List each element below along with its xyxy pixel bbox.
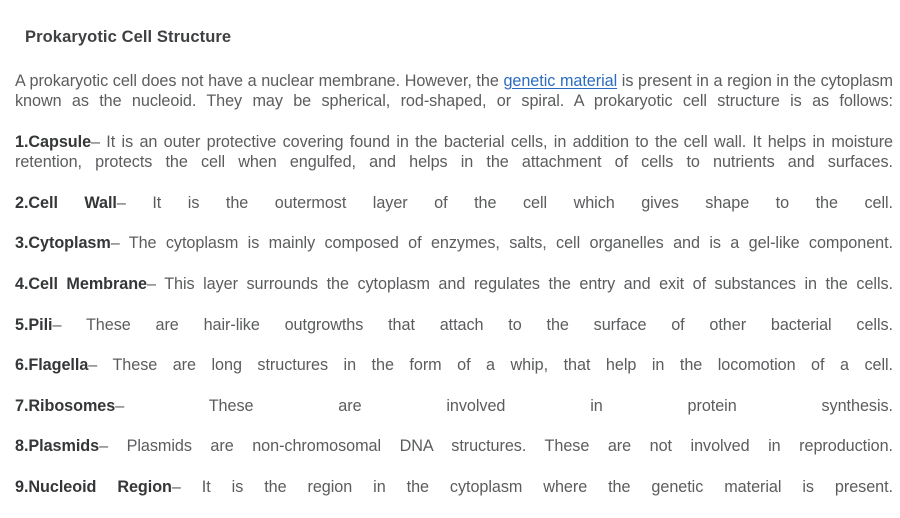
list-item-term: 7.Ribosomes <box>15 397 115 415</box>
list-item: 2.Cell Wall– It is the outermost layer o… <box>15 193 893 234</box>
list-item-term: 6.Flagella <box>15 356 88 374</box>
genetic-material-link[interactable]: genetic material <box>503 72 617 90</box>
list-item: 9.Nucleoid Region– It is the region in t… <box>15 477 893 518</box>
list-item: 8.Plasmids– Plasmids are non-chromosomal… <box>15 436 893 477</box>
list-item: 4.Cell Membrane– This layer surrounds th… <box>15 274 893 315</box>
list-item-description: – It is an outer protective covering fou… <box>15 133 893 171</box>
list-item-description: – These are hair-like outgrowths that at… <box>53 316 894 334</box>
list-item-description: – These are involved in protein synthesi… <box>115 397 893 415</box>
list-item-term: 8.Plasmids <box>15 437 99 455</box>
list-item-description: – The cytoplasm is mainly composed of en… <box>111 234 893 252</box>
list-item: 7.Ribosomes– These are involved in prote… <box>15 396 893 437</box>
list-item-term: 9.Nucleoid Region <box>15 478 172 496</box>
list-item: 5.Pili– These are hair-like outgrowths t… <box>15 315 893 356</box>
list-item: 3.Cytoplasm– The cytoplasm is mainly com… <box>15 233 893 274</box>
list-item-term: 5.Pili <box>15 316 53 334</box>
intro-text-part-1: A prokaryotic cell does not have a nucle… <box>15 72 503 90</box>
page-title: Prokaryotic Cell Structure <box>25 28 231 48</box>
list-item-term: 2.Cell Wall <box>15 194 117 212</box>
list-item-term: 3.Cytoplasm <box>15 234 111 252</box>
list-item-description: – It is the outermost layer of the cell … <box>117 194 893 212</box>
intro-paragraph: A prokaryotic cell does not have a nucle… <box>15 71 893 132</box>
list-item-description: – It is the region in the cytoplasm wher… <box>172 478 893 496</box>
list-item: 1.Capsule– It is an outer protective cov… <box>15 132 893 193</box>
list-item-description: – These are long structures in the form … <box>88 356 893 374</box>
article-page: Prokaryotic Cell Structure A prokaryotic… <box>0 0 900 506</box>
article-body: A prokaryotic cell does not have a nucle… <box>15 71 893 518</box>
list-item-term: 4.Cell Membrane <box>15 275 147 293</box>
list-item-description: – Plasmids are non-chromosomal DNA struc… <box>99 437 893 455</box>
list-item-description: – This layer surrounds the cytoplasm and… <box>147 275 893 293</box>
list-item: 6.Flagella– These are long structures in… <box>15 355 893 396</box>
list-item-term: 1.Capsule <box>15 133 91 151</box>
cell-structure-list: 1.Capsule– It is an outer protective cov… <box>15 132 893 518</box>
